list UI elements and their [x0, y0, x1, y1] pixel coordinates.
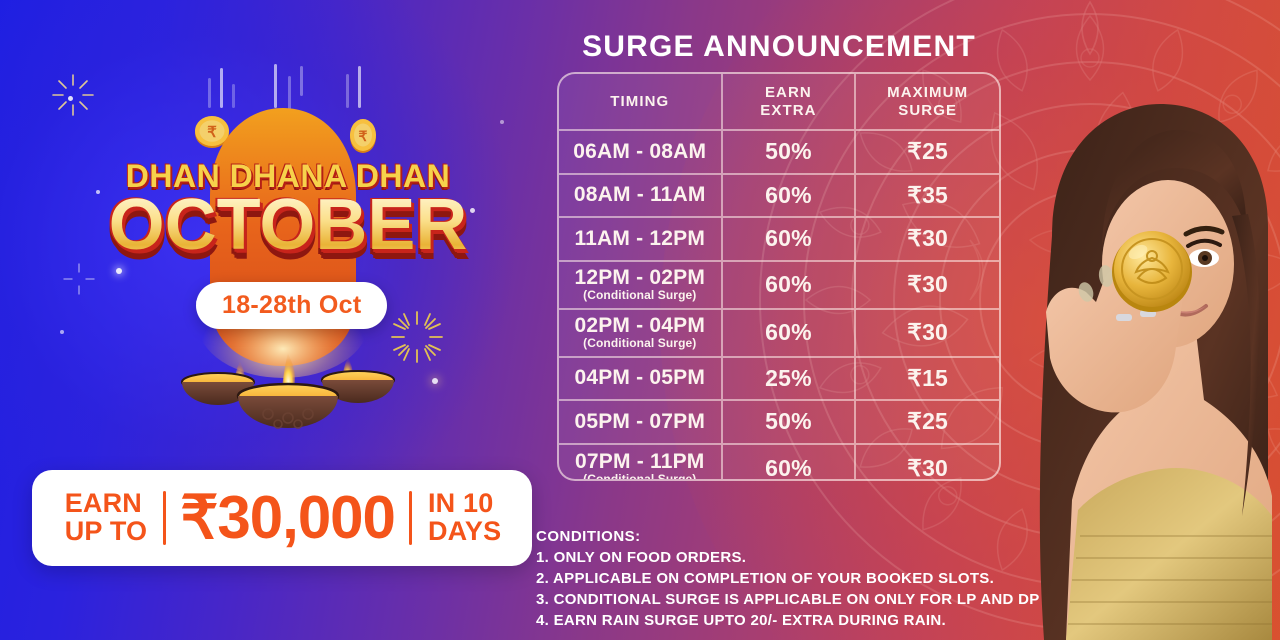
- surge-announcement-title: SURGE ANNOUNCEMENT: [556, 30, 1002, 64]
- timing-value: 05PM - 07PM: [574, 411, 705, 433]
- table-header-timing: TIMING: [559, 74, 723, 129]
- earn-extra-value: 25%: [765, 365, 812, 392]
- table-header-earn-extra: EARN EXTRA: [723, 74, 857, 129]
- model-photo: [1000, 96, 1280, 640]
- earn-extra-value: 60%: [765, 455, 812, 481]
- timing-value: 06AM - 08AM: [573, 141, 706, 163]
- table-row: 04PM - 05PM 25% ₹15: [559, 358, 999, 402]
- timing-note: (Conditional Surge): [583, 288, 696, 302]
- header-label-line1: MAXIMUM: [887, 84, 968, 101]
- surge-table: TIMING EARN EXTRA MAXIMUM SURGE 06AM - 0…: [557, 72, 1001, 481]
- maximum-surge-value: ₹25: [907, 408, 948, 435]
- maximum-surge-value: ₹30: [907, 455, 948, 481]
- maximum-surge-value: ₹25: [907, 138, 948, 165]
- maximum-surge-value: ₹30: [907, 319, 948, 346]
- cell-maximum-surge: ₹25: [856, 131, 999, 173]
- timing-value: 12PM - 02PM: [574, 267, 705, 289]
- cell-timing: 12PM - 02PM (Conditional Surge): [559, 262, 723, 308]
- header-label-line2: SURGE: [898, 102, 957, 119]
- cell-timing: 02PM - 04PM (Conditional Surge): [559, 310, 723, 356]
- cell-earn-extra: 60%: [723, 262, 857, 308]
- table-row: 07PM - 11PM (Conditional Surge) 60% ₹30: [559, 445, 999, 482]
- condition-item: 2. APPLICABLE ON COMPLETION OF YOUR BOOK…: [536, 570, 1056, 587]
- timing-note: (Conditional Surge): [583, 472, 696, 481]
- condition-item: 1. ONLY ON FOOD ORDERS.: [536, 549, 1056, 566]
- promo-banner: ₹ ₹ ₹: [0, 0, 1280, 640]
- promo-logo-text: DHAN DHANA DHAN OCTOBER: [78, 158, 498, 260]
- cell-earn-extra: 60%: [723, 175, 857, 217]
- header-label-line1: EARN: [765, 84, 812, 101]
- earn-extra-value: 60%: [765, 271, 812, 298]
- timing-value: 08AM - 11AM: [574, 184, 706, 206]
- sparkle-icon: [60, 330, 64, 334]
- cell-earn-extra: 60%: [723, 445, 857, 482]
- earn-extra-value: 60%: [765, 182, 812, 209]
- table-row: 12PM - 02PM (Conditional Surge) 60% ₹30: [559, 262, 999, 310]
- cell-maximum-surge: ₹25: [856, 401, 999, 443]
- timing-value: 04PM - 05PM: [574, 367, 705, 389]
- sparkle-icon: [500, 120, 504, 124]
- diya-lamps-icon: [172, 334, 404, 452]
- cell-earn-extra: 50%: [723, 401, 857, 443]
- earn-up-to-label: EARN UP TO: [39, 490, 164, 545]
- timing-note: (Conditional Surge): [583, 336, 696, 350]
- cell-earn-extra: 60%: [723, 310, 857, 356]
- earn-duration-label: IN 10 DAYS: [412, 490, 525, 545]
- cell-earn-extra: 25%: [723, 358, 857, 400]
- cell-earn-extra: 50%: [723, 131, 857, 173]
- maximum-surge-value: ₹30: [907, 225, 948, 252]
- header-label-line2: EXTRA: [760, 102, 816, 119]
- earn-extra-value: 60%: [765, 319, 812, 346]
- timing-value: 07PM - 11PM: [575, 451, 704, 473]
- table-header-maximum-surge: MAXIMUM SURGE: [856, 74, 999, 129]
- earn-up-to-banner: EARN UP TO ₹30,000 IN 10 DAYS: [32, 470, 532, 566]
- condition-item: 3. CONDITIONAL SURGE IS APPLICABLE ON ON…: [536, 591, 1056, 608]
- table-row: 05PM - 07PM 50% ₹25: [559, 401, 999, 445]
- conditions-block: CONDITIONS: 1. ONLY ON FOOD ORDERS. 2. A…: [536, 528, 1056, 629]
- earn-extra-value: 50%: [765, 138, 812, 165]
- maximum-surge-value: ₹35: [907, 182, 948, 209]
- cell-earn-extra: 60%: [723, 218, 857, 260]
- condition-item: 4. EARN RAIN SURGE UPTO 20/- EXTRA DURIN…: [536, 612, 1056, 629]
- cell-timing: 07PM - 11PM (Conditional Surge): [559, 445, 723, 482]
- cell-maximum-surge: ₹30: [856, 310, 999, 356]
- maximum-surge-value: ₹30: [907, 271, 948, 298]
- table-header-row: TIMING EARN EXTRA MAXIMUM SURGE: [559, 74, 999, 131]
- table-row: 11AM - 12PM 60% ₹30: [559, 218, 999, 262]
- cell-maximum-surge: ₹15: [856, 358, 999, 400]
- conditions-title: CONDITIONS:: [536, 528, 1056, 545]
- header-label: TIMING: [610, 93, 669, 110]
- cell-timing: 05PM - 07PM: [559, 401, 723, 443]
- cell-maximum-surge: ₹30: [856, 445, 999, 482]
- earn-extra-value: 50%: [765, 408, 812, 435]
- cell-maximum-surge: ₹35: [856, 175, 999, 217]
- earn-extra-value: 60%: [765, 225, 812, 252]
- promo-month: OCTOBER: [78, 191, 498, 260]
- timing-value: 11AM - 12PM: [574, 228, 705, 250]
- table-row: 02PM - 04PM (Conditional Surge) 60% ₹30: [559, 310, 999, 358]
- cell-timing: 08AM - 11AM: [559, 175, 723, 217]
- cell-timing: 04PM - 05PM: [559, 358, 723, 400]
- cell-maximum-surge: ₹30: [856, 262, 999, 308]
- timing-value: 02PM - 04PM: [574, 315, 705, 337]
- cell-timing: 06AM - 08AM: [559, 131, 723, 173]
- promo-date-badge: 18-28th Oct: [196, 282, 387, 329]
- cell-timing: 11AM - 12PM: [559, 218, 723, 260]
- cell-maximum-surge: ₹30: [856, 218, 999, 260]
- table-row: 08AM - 11AM 60% ₹35: [559, 175, 999, 219]
- maximum-surge-value: ₹15: [907, 365, 948, 392]
- table-row: 06AM - 08AM 50% ₹25: [559, 131, 999, 175]
- earn-amount: ₹30,000: [166, 483, 409, 553]
